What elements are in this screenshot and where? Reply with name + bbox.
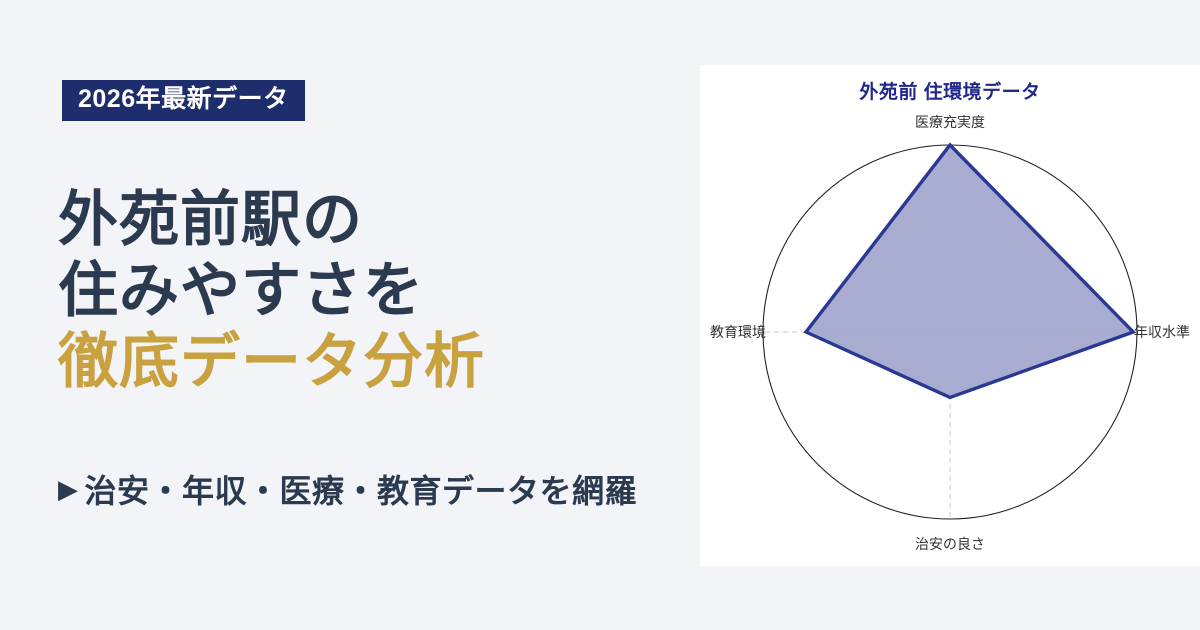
latest-data-badge: 2026年最新データ <box>62 80 305 121</box>
axis-label-income: 年収水準 <box>1134 324 1190 340</box>
left-content-column: 2026年最新データ 外苑前駅の 住みやすさを 徹底データ分析 ▶ 治安・年収・… <box>0 0 700 630</box>
axis-label-medical: 医療充実度 <box>915 114 985 130</box>
chart-panel: 外苑前 住環境データ 医療充実度 年収水準 治安の良さ 教育環境 <box>700 65 1200 566</box>
axis-label-education: 教育環境 <box>710 324 766 340</box>
radar-chart: 医療充実度 年収水準 治安の良さ 教育環境 <box>700 65 1200 566</box>
headline-line-3-accent: 徹底データ分析 <box>58 327 698 398</box>
headline-line-2: 住みやすさを <box>58 256 698 327</box>
subtitle-row: ▶ 治安・年収・医療・教育データを網羅 <box>58 466 637 512</box>
headline-block: 外苑前駅の 住みやすさを 徹底データ分析 <box>58 185 698 397</box>
headline-line-1: 外苑前駅の <box>58 185 698 256</box>
subtitle-text: 治安・年収・医療・教育データを網羅 <box>85 466 638 512</box>
poster-canvas: 2026年最新データ 外苑前駅の 住みやすさを 徹底データ分析 ▶ 治安・年収・… <box>0 0 1200 630</box>
radar-data-polygon <box>806 145 1133 397</box>
triangle-marker-icon: ▶ <box>58 476 79 502</box>
axis-label-security: 治安の良さ <box>915 536 985 552</box>
